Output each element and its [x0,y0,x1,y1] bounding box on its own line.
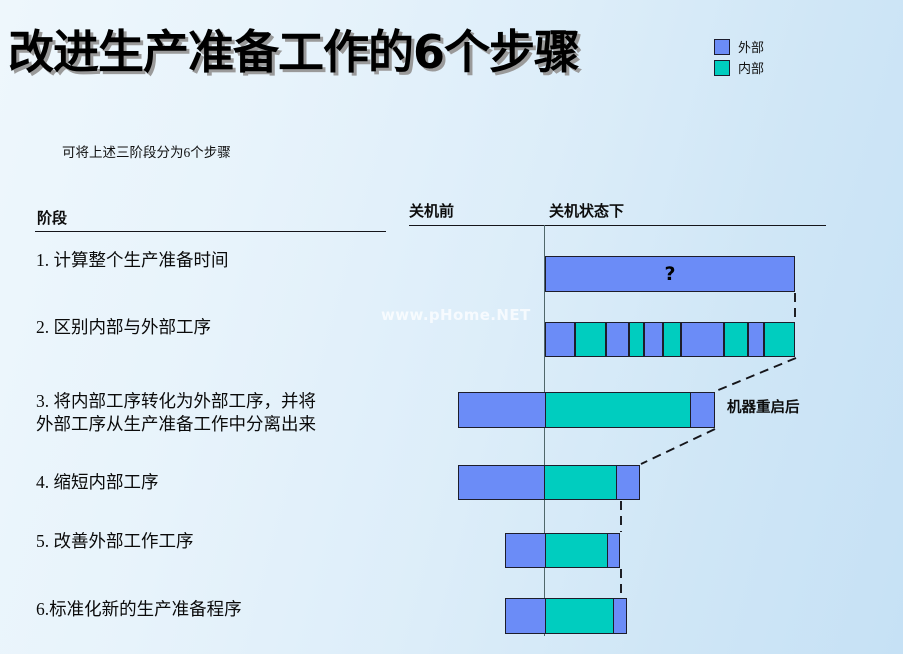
bar-row-5 [505,533,620,568]
legend-label-internal: 内部 [738,58,764,77]
bar-segment-internal [544,466,616,499]
bar-row-4 [458,465,640,500]
square-swatch-icon-external [714,39,730,55]
header-rule-left [35,231,386,232]
legend-label-external: 外部 [738,37,764,56]
bar-row-1: ? [545,256,795,292]
bar-segment-internal [662,323,681,356]
column-header-during-shutdown: 关机状态下 [549,200,624,221]
bar-segment-external [747,323,763,356]
column-header-stage: 阶段 [37,207,67,228]
bar-row-6 [505,598,627,634]
bar-segment-internal [545,599,614,633]
legend-item-internal: 内部 [714,57,764,78]
slide-canvas: 改进生产准备工作的6个步骤 外部 内部 可将上述三阶段分为6个步骤 阶段 关机前… [0,0,903,654]
bar-row-3 [458,392,715,428]
bar-segment-external [459,466,544,499]
step-label-4: 4. 缩短内部工序 [36,471,159,494]
step-label-2: 2. 区别内部与外部工序 [36,316,211,339]
subtitle: 可将上述三阶段分为6个步骤 [62,141,231,161]
bar-segment-external [613,599,626,633]
bar-segment-internal [545,534,608,567]
bar-segment-external [607,534,619,567]
restart-annotation-label: 机器重启后 [727,396,800,417]
bar-segment-external [506,599,545,633]
square-swatch-icon-internal [714,60,730,76]
bar-segment-external [643,323,662,356]
legend-item-external: 外部 [714,36,764,57]
bar-segment-internal [574,323,605,356]
bar-segment-external [459,393,545,427]
bar-segment-internal [763,323,794,356]
step-label-5: 5. 改善外部工作工序 [36,530,194,553]
bar-segment-external [546,323,574,356]
column-header-before-shutdown: 关机前 [409,200,454,221]
watermark: www.pHome.NET [381,306,531,324]
bar-segment-external [616,466,639,499]
bar-segment-external [546,257,794,291]
bar-segment-internal [723,323,747,356]
bar-row-2 [545,322,795,357]
step-label-1: 1. 计算整个生产准备时间 [36,249,229,272]
step-label-6: 6.标准化新的生产准备程序 [36,598,242,621]
bar-segment-internal [628,323,644,356]
header-rule-right [409,225,826,226]
bar-segment-external [690,393,714,427]
bar-segment-external [605,323,627,356]
page-title: 改进生产准备工作的6个步骤 [8,16,579,82]
step-label-3: 3. 将内部工序转化为外部工序，并将 外部工序从生产准备工作中分离出来 [36,390,316,436]
bar-segment-external [680,323,723,356]
legend: 外部 内部 [714,36,764,78]
bar-segment-external [506,534,545,567]
bar-segment-internal [545,393,691,427]
